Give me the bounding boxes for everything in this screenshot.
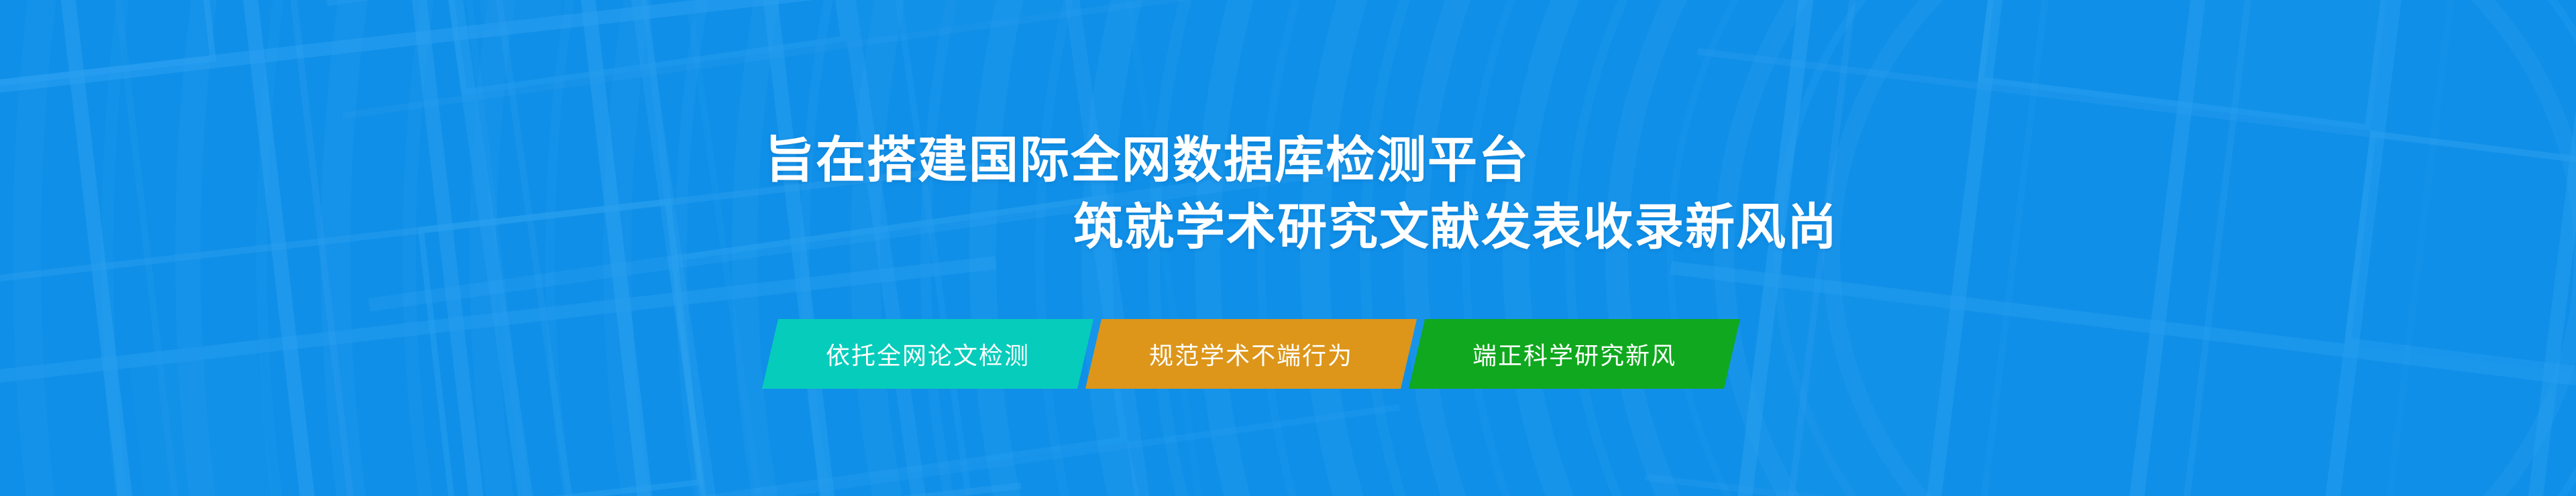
feature-badge-label: 规范学术不端行为 — [1149, 336, 1353, 371]
headline-line-1: 旨在搭建国际全网数据库检测平台 — [765, 132, 1529, 188]
feature-badge-paper-detection[interactable]: 依托全网论文检测 — [762, 319, 1093, 389]
feature-badge-label: 依托全网论文检测 — [826, 336, 1030, 371]
feature-badge-research-ethics[interactable]: 端正科学研究新风 — [1409, 319, 1740, 389]
feature-badge-misconduct-regulation[interactable]: 规范学术不端行为 — [1085, 319, 1417, 389]
hero-banner: 旨在搭建国际全网数据库检测平台 筑就学术研究文献发表收录新风尚 依托全网论文检测… — [0, 0, 2576, 496]
feature-badge-label: 端正科学研究新风 — [1472, 336, 1676, 371]
headline-block: 旨在搭建国际全网数据库检测平台 筑就学术研究文献发表收录新风尚 — [0, 0, 2576, 496]
feature-badge-row: 依托全网论文检测 规范学术不端行为 端正科学研究新风 — [758, 319, 1831, 389]
headline-line-2: 筑就学术研究文献发表收录新风尚 — [1073, 199, 1838, 255]
